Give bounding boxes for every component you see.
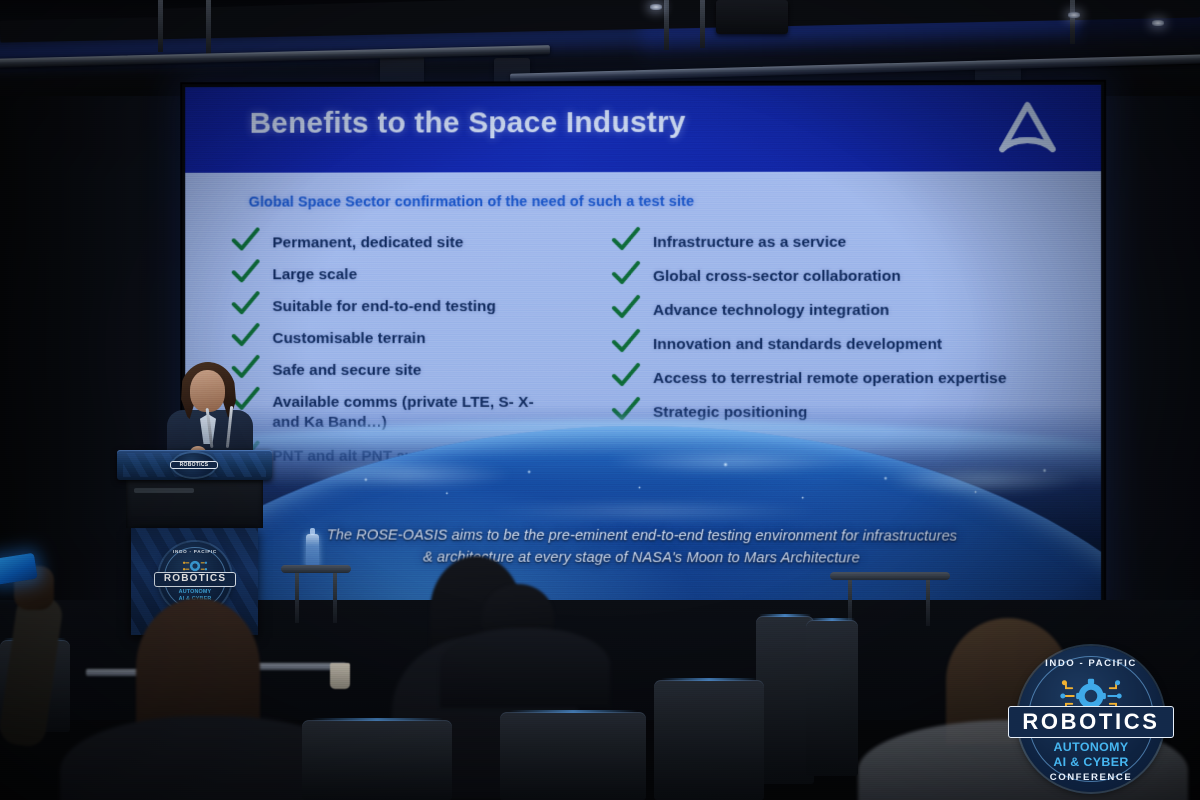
list-item-label: Safe and secure site: [272, 358, 421, 381]
list-item-label: Advance technology integration: [653, 298, 889, 321]
check-icon: [611, 329, 653, 355]
event-logo-arc-bottom: CONFERENCE: [1018, 772, 1164, 783]
presenter-head: [190, 370, 225, 412]
earth-cloud: [603, 448, 863, 474]
water-bottle: [306, 534, 319, 568]
stage-light-2: [1068, 12, 1080, 18]
list-item-label: Customisable terrain: [272, 326, 425, 349]
lectern-top-logo-wordmark: ROBOTICS: [180, 463, 209, 468]
list-item: Permanent, dedicated site: [231, 230, 611, 260]
ceiling-hanger-2: [206, 0, 211, 56]
stage-table: [830, 572, 950, 580]
city-light: [974, 490, 977, 493]
presentation-slide: Benefits to the Space Industry Global Sp…: [185, 85, 1101, 615]
city-light: [801, 496, 804, 499]
lectern-event-logo-sub1: AUTONOMY: [159, 590, 231, 596]
slide-title-band: Benefits to the Space Industry: [185, 85, 1101, 173]
earth-cloud: [304, 460, 513, 490]
ceiling-hanger-4: [700, 0, 705, 48]
city-light: [638, 486, 641, 489]
list-item: Advance technology integration: [611, 298, 1053, 329]
side-table-leg: [295, 573, 299, 623]
check-icon: [611, 363, 653, 389]
event-logo-roundel: INDO - PACIFIC: [1018, 646, 1164, 792]
lectern-top-logo: ROBOTICS: [173, 453, 215, 477]
event-logo-watermark: INDO - PACIFIC: [1004, 638, 1190, 792]
stage-table-leg: [926, 580, 930, 626]
lectern-shelf: [126, 480, 263, 528]
city-light: [1043, 468, 1047, 472]
list-item: Customisable terrain: [231, 326, 611, 356]
slide-title: Benefits to the Space Industry: [250, 106, 686, 141]
projection-screen: Benefits to the Space Industry Global Sp…: [185, 85, 1101, 615]
list-item-label: Access to terrestrial remote operation e…: [653, 366, 1007, 389]
side-table-leg: [333, 573, 337, 623]
event-logo-wordmark: ROBOTICS: [1022, 711, 1159, 733]
auditorium-chair: [806, 620, 858, 776]
stage-light-1: [650, 4, 662, 10]
earth-cloud: [884, 466, 1085, 494]
city-light: [527, 470, 531, 474]
audience-shoulders: [440, 628, 610, 708]
auditorium-chair: [654, 680, 764, 800]
check-icon: [231, 323, 273, 349]
check-icon: [611, 295, 653, 321]
list-item: Innovation and standards development: [611, 332, 1053, 363]
list-item-label: Global cross-sector collaboration: [653, 264, 901, 287]
list-item-label: Suitable for end-to-end testing: [272, 294, 496, 317]
slide-caption-line-1: The ROSE-OASIS aims to be the pre-eminen…: [185, 524, 1101, 548]
slide-caption: The ROSE-OASIS aims to be the pre-eminen…: [185, 524, 1101, 571]
stage-table-top: [830, 572, 950, 580]
event-logo-arc-top: INDO - PACIFIC: [1018, 658, 1164, 669]
event-logo-wordbar: ROBOTICS: [1008, 706, 1174, 738]
arch-a-logo: [996, 101, 1058, 155]
side-table: [281, 565, 351, 629]
check-icon: [231, 259, 273, 285]
ceiling-hanger-1: [158, 0, 163, 52]
check-icon: [611, 261, 653, 287]
wall-right-panel: [1096, 96, 1200, 636]
lectern-event-logo-wordmark: ROBOTICS: [164, 574, 226, 584]
list-item: Suitable for end-to-end testing: [231, 294, 611, 324]
stage-light-3: [1152, 20, 1164, 26]
city-light: [884, 476, 888, 480]
side-table-top: [281, 565, 351, 573]
list-item: Large scale: [231, 262, 611, 292]
lectern-top-logo-wordbar: ROBOTICS: [170, 461, 218, 469]
auditorium-chair: [500, 712, 646, 800]
city-light: [445, 492, 448, 495]
auditorium-chair: [302, 720, 452, 800]
list-item: Infrastructure as a service: [611, 230, 1053, 262]
list-item: Global cross-sector collaboration: [611, 264, 1053, 295]
ceiling-hanger-5: [1070, 0, 1075, 44]
ceiling-rigging: [0, 0, 1200, 96]
slide-body: Global Space Sector confirmation of the …: [185, 171, 1101, 615]
list-item-label: Infrastructure as a service: [653, 230, 846, 253]
city-light: [723, 462, 728, 467]
conference-room-scene: Benefits to the Space Industry Global Sp…: [0, 0, 1200, 800]
check-icon: [611, 227, 653, 253]
city-light: [364, 478, 368, 482]
list-item-label: Permanent, dedicated site: [272, 230, 463, 253]
check-icon: [231, 227, 273, 253]
ceiling-hanger-3: [664, 0, 669, 50]
lectern-event-logo-arc-top: INDO - PACIFIC: [159, 549, 231, 554]
list-item-label: Large scale: [272, 262, 357, 285]
lectern-event-logo-wordbar: ROBOTICS: [154, 572, 236, 588]
slide-subtitle: Global Space Sector confirmation of the …: [249, 194, 695, 211]
event-logo-sub-line-2: AI & CYBER: [1018, 756, 1164, 769]
list-item: Access to terrestrial remote operation e…: [611, 366, 1053, 397]
list-item-label: Innovation and standards development: [653, 332, 942, 355]
lighting-truss-right: [510, 54, 1200, 83]
event-logo-sub-line-1: AUTONOMY: [1018, 741, 1164, 754]
coffee-cup: [330, 663, 350, 689]
ceiling-speaker-3: [716, 0, 788, 34]
lectern-shelf-strip: [134, 488, 194, 493]
list-item: Safe and secure site: [231, 358, 611, 388]
check-icon: [231, 291, 273, 317]
